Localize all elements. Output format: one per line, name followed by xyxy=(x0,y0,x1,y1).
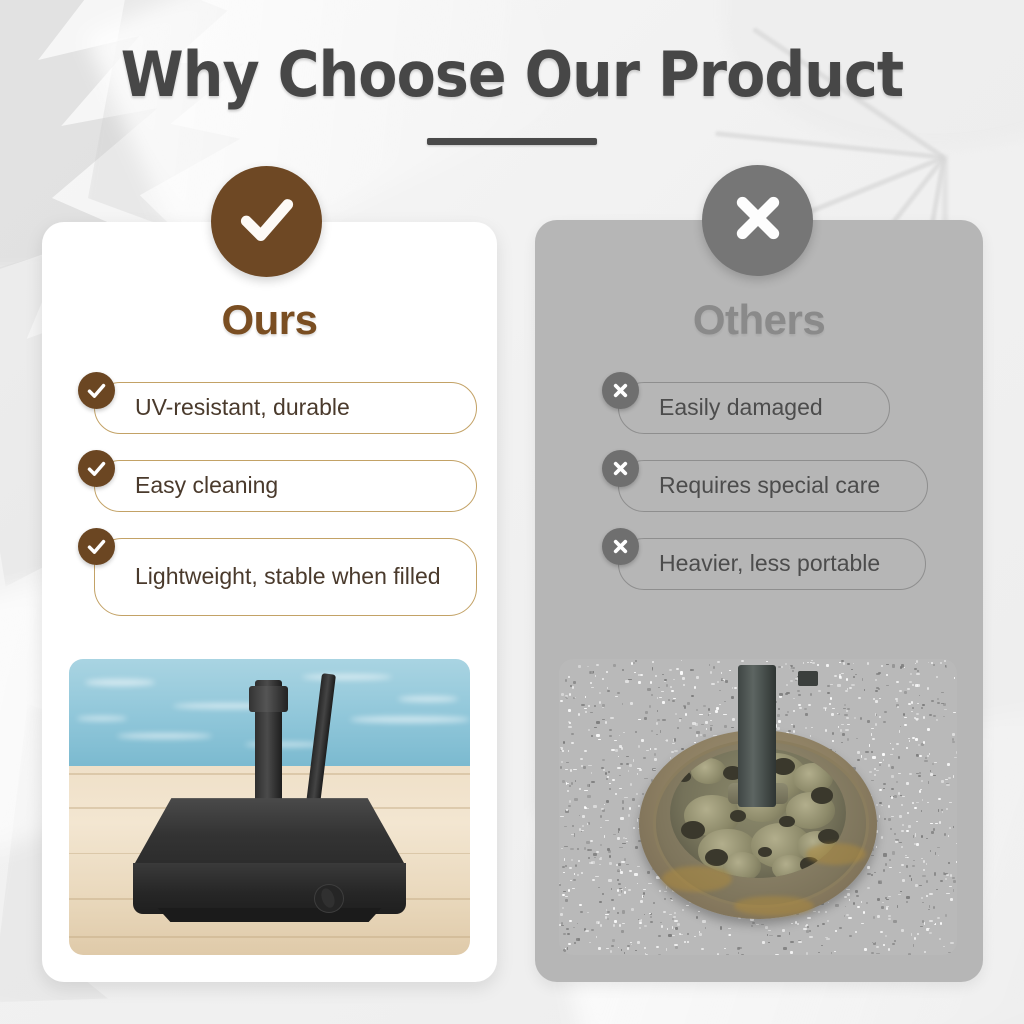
page-title: Why Choose Our Product xyxy=(41,38,983,111)
others-product-photo xyxy=(559,659,957,955)
base-bottom-edge xyxy=(157,908,382,923)
feature-text: UV-resistant, durable xyxy=(94,382,477,434)
feature-text: Lightweight, stable when filled xyxy=(94,538,477,616)
cross-icon xyxy=(727,187,789,254)
others-cross-badge xyxy=(702,165,813,276)
ours-check-badge xyxy=(211,166,322,277)
others-heading: Others xyxy=(535,296,983,344)
check-icon-small xyxy=(78,450,115,487)
rust-patch xyxy=(806,843,866,865)
rust-patch xyxy=(734,896,814,916)
pole-collar xyxy=(249,686,287,713)
feature-text: Easy cleaning xyxy=(94,460,477,512)
feature-text: Easily damaged xyxy=(618,382,890,434)
fill-cap-icon xyxy=(314,884,344,913)
check-icon-small xyxy=(78,528,115,565)
cross-icon-small xyxy=(602,528,639,565)
ours-heading: Ours xyxy=(42,296,497,344)
cross-icon-small xyxy=(602,372,639,409)
title-divider xyxy=(427,138,597,145)
iron-bracket xyxy=(798,671,818,686)
base-front-face xyxy=(133,863,406,913)
feature-text: Requires special care xyxy=(618,460,928,512)
check-icon xyxy=(236,188,298,255)
feature-text: Heavier, less portable xyxy=(618,538,926,590)
check-icon-small xyxy=(78,372,115,409)
infographic-canvas: Why Choose Our Product Ours UV-resistant… xyxy=(0,0,1024,1024)
iron-umbrella-pole xyxy=(738,665,776,807)
base-top-face xyxy=(133,798,406,866)
ours-product-photo xyxy=(69,659,470,955)
cross-icon-small xyxy=(602,450,639,487)
